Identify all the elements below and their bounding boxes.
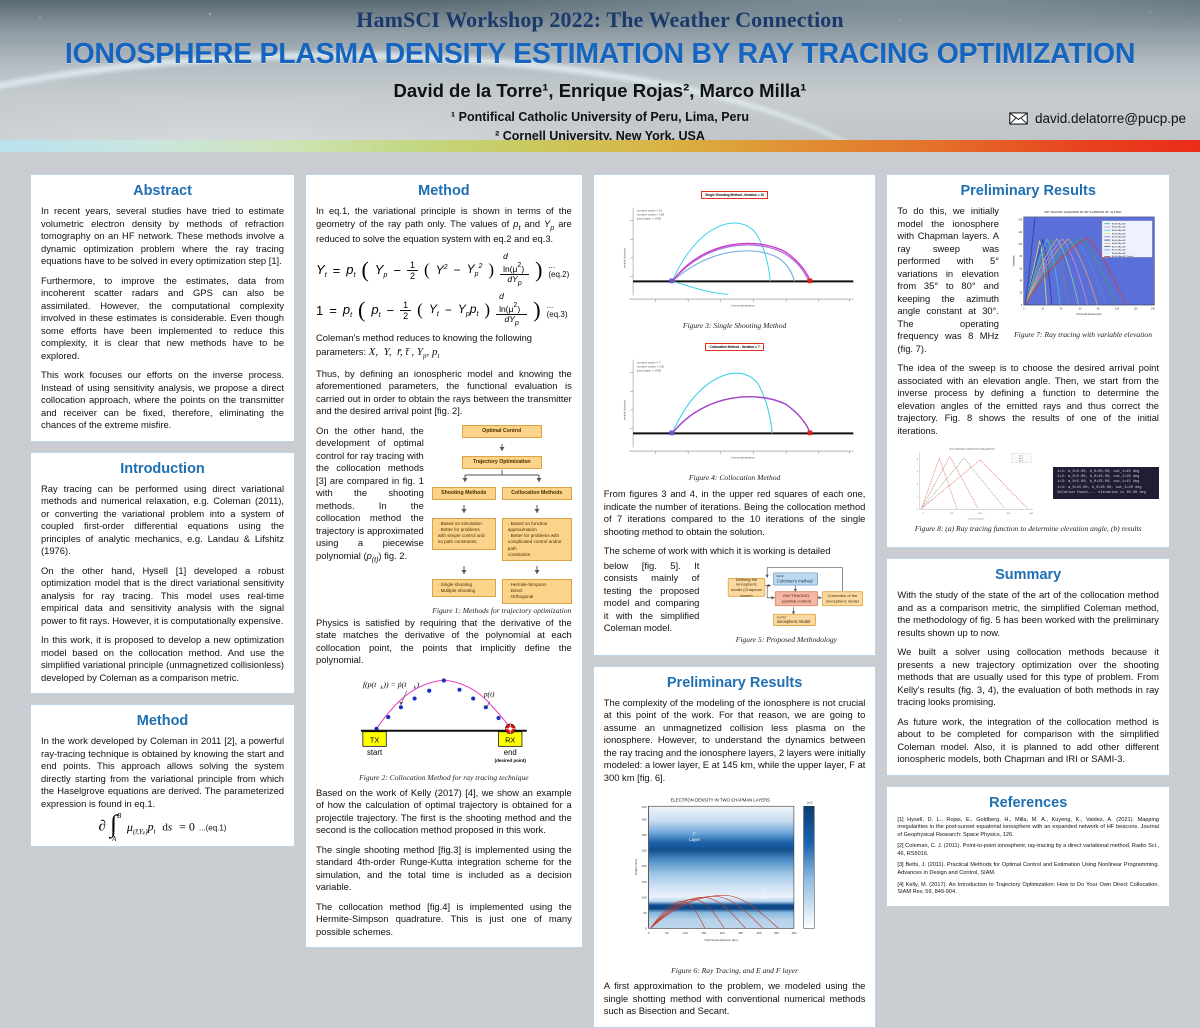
svg-text:60: 60	[1079, 309, 1082, 311]
svg-text:80: 80	[1097, 309, 1100, 311]
equation-3: 1 = pt ( pt − 12 (Yt−Yppt) d ln(μ2)dYp )…	[316, 292, 572, 328]
poster-body: Abstract In recent years, several studie…	[0, 152, 1200, 901]
results-col4-paragraph-2: The idea of the sweep is to choose the d…	[897, 362, 1159, 437]
method-col2-paragraph-7: The single shooting method [fig.3] is im…	[316, 844, 572, 894]
svg-text:El=50°/Az=30°: El=50°/Az=30°	[1112, 232, 1126, 235]
figure-7-caption: Figure 7: Ray tracing with variable elev…	[1007, 330, 1159, 339]
envelope-icon	[1009, 112, 1028, 125]
fig1-connector-2	[432, 505, 572, 513]
figure-7-plot: RAY TRACING: ELEVATION 35°-80° & AZIMUTH…	[1007, 205, 1159, 323]
figure-6-caption: Figure 6: Ray Tracing, and E and F layer	[604, 966, 866, 975]
method-card-col1: Method In the work developed by Coleman …	[30, 704, 295, 847]
summary-heading: Summary	[897, 567, 1159, 583]
svg-text:400: 400	[642, 805, 647, 809]
fig3-target-marker	[807, 279, 812, 284]
results-col3-paragraph-1: The complexity of the modeling of the io…	[604, 697, 866, 785]
figure-3: Single Shooting Method - iteration = 10 …	[604, 183, 866, 330]
fig3-launch-marker	[669, 279, 674, 284]
fig2-end-note: (desired point)	[495, 758, 527, 763]
figure-8-caption: Figure 8: (a) Ray tracing function to de…	[897, 524, 1159, 533]
fig1-node-root: Optimal Control	[462, 425, 542, 438]
method-col2-paragraph-3: Thus, by defining an ionospheric model a…	[316, 368, 572, 418]
svg-text:40: 40	[1020, 280, 1023, 282]
svg-text:250: 250	[738, 931, 743, 935]
svg-text:200: 200	[720, 931, 725, 935]
figure-3-title-tag: Single Shooting Method - iteration = 10	[701, 191, 768, 199]
fig6-ylabel: Height (km)	[634, 859, 638, 875]
introduction-heading: Introduction	[41, 461, 284, 477]
column-2: Method In eq.1, the variational principl…	[305, 174, 583, 1028]
svg-text:0: 0	[1023, 309, 1025, 311]
method-heading-col1: Method	[41, 713, 284, 729]
reference-3: [3] Betts, J. (2011). Practical Methods …	[897, 862, 1159, 877]
method-col2-paragraph-1: In eq.1, the variational principle is sh…	[316, 205, 572, 245]
spectrum-divider-bar	[0, 140, 1200, 152]
svg-text:400: 400	[791, 931, 796, 935]
svg-text:150: 150	[701, 931, 706, 935]
svg-text:100: 100	[950, 513, 953, 515]
fig7-ylabel: Height(km)	[1013, 255, 1016, 267]
fig1-connector-1	[432, 444, 572, 451]
figure-7: RAY TRACING: ELEVATION 35°-80° & AZIMUTH…	[1007, 205, 1159, 339]
figure-3-caption: Figure 3: Single Shooting Method	[604, 321, 866, 330]
svg-text:100: 100	[642, 895, 647, 899]
svg-text:350: 350	[774, 931, 779, 935]
svg-text:RAY TRACING FUNCTION TO ELEVAT: RAY TRACING FUNCTION TO ELEVATION	[950, 448, 995, 451]
fig2-label-pt: p(t)	[483, 689, 495, 698]
introduction-paragraph-1: Ray tracing can be performed using direc…	[41, 483, 284, 558]
svg-text:total space = 1000: total space = 1000	[637, 217, 662, 221]
preliminary-results-card-col4: Preliminary Results RAY TRACING: ELEVATI…	[886, 174, 1170, 548]
figure-4-plot: number points = 7 number nodes = 100 tot…	[604, 354, 866, 466]
svg-text:100: 100	[683, 931, 688, 935]
fig6-xlabel: Horizontal distance (km)	[704, 938, 737, 942]
figure-6-title: ELECTRON DENSITY IN TWO CHAPMAN LAYERS	[670, 797, 769, 802]
equation-2: Yt = pt ( Yp − 12 (Y2−Yp2) d ln(μ2)dYp )…	[316, 252, 572, 288]
fig2-target-marker	[505, 723, 515, 733]
svg-text:50: 50	[643, 911, 647, 915]
method-col2-paragraph-6: Based on the work of Kelly (2017) [4], w…	[316, 787, 572, 837]
fig1-bullets-collocation: · Based on function approximation · Bett…	[502, 518, 572, 561]
svg-text:0: 0	[645, 926, 647, 930]
svg-text:total space = 1000: total space = 1000	[637, 369, 662, 373]
svg-text:300: 300	[756, 931, 761, 935]
svg-text:40: 40	[1060, 309, 1063, 311]
figure-1: Optimal Control Trajectory Optimization …	[432, 425, 572, 615]
svg-text:El=65°/Az=30°: El=65°/Az=30°	[1112, 242, 1126, 245]
method-col1-paragraph-1: In the work developed by Coleman in 2011…	[41, 735, 284, 810]
svg-text:120: 120	[1134, 309, 1139, 311]
figure-7-legend: El=35°/Az=30° El=40°/Az=30° El=45°/Az=30…	[1102, 221, 1152, 258]
contact-email[interactable]: david.delatorre@pucp.pe	[1009, 111, 1186, 126]
fig4-launch-marker	[669, 431, 674, 436]
svg-text:300: 300	[642, 833, 647, 837]
method-heading-col2: Method	[316, 183, 572, 199]
svg-text:2: 2	[917, 496, 918, 498]
reference-4: [4] Kelly, M. (2017). An Introduction to…	[897, 882, 1159, 897]
fig6-cbar-label: 1e12	[806, 800, 813, 804]
svg-text:150: 150	[642, 880, 647, 884]
abstract-card: Abstract In recent years, several studie…	[30, 174, 295, 442]
svg-text:El=45°/Az=30°: El=45°/Az=30°	[1112, 229, 1126, 232]
svg-text:El=80°/Az=30° Partial: El=80°/Az=30° Partial	[1112, 255, 1134, 258]
svg-text:El=75°/Az=30°: El=75°/Az=30°	[1112, 249, 1126, 252]
figure-8a-plot: RAY TRACING FUNCTION TO ELEVATION	[897, 444, 1047, 522]
svg-text:60: 60	[1020, 268, 1023, 270]
fig5-node-coleman: MetricColeman's method	[773, 572, 818, 585]
reference-2: [2] Coleman, C. J. (2011). Point-to-poin…	[897, 843, 1159, 858]
svg-text:horizontal distance: horizontal distance	[731, 304, 755, 308]
reference-1: [1] Hysell, D. L., Rojas, E., Goldberg, …	[897, 817, 1159, 840]
svg-text:iter 3: iter 3	[1019, 460, 1023, 463]
svg-text:140: 140	[1151, 309, 1156, 311]
figure-1-caption: Figure 1: Methods for trajectory optimiz…	[432, 606, 572, 615]
svg-text:El=55°/Az=30°: El=55°/Az=30°	[1112, 236, 1126, 239]
introduction-paragraph-3: In this work, it is proposed to develop …	[41, 634, 284, 684]
fig5-node-correction: Correction of the ionospheric model	[822, 591, 863, 606]
summary-paragraph-2: We built a solver using collocation meth…	[897, 646, 1159, 709]
fig1-node-trajopt: Trajectory Optimization	[462, 456, 542, 469]
fig1-connector-3	[432, 566, 572, 574]
method-card-col2: Method In eq.1, the variational principl…	[305, 174, 583, 948]
svg-text:0: 0	[648, 931, 650, 935]
email-text: david.delatorre@pucp.pe	[1035, 111, 1186, 126]
references-card: References [1] Hysell, D. L., Rojas, E.,…	[886, 786, 1170, 907]
fig2-rx-label: RX	[505, 735, 515, 744]
figure-6-plot: ELECTRON DENSITY IN TWO CHAPMAN LAYERS F…	[604, 791, 866, 959]
svg-text:6: 6	[917, 471, 918, 473]
svg-text:horizontal distance: horizontal distance	[969, 517, 985, 520]
svg-text:El=60°/Az=30°: El=60°/Az=30°	[1112, 239, 1126, 242]
abstract-paragraph-3: This work focuses our efforts on the inv…	[41, 369, 284, 432]
fig2-tx-label: TX	[370, 735, 379, 744]
equation-1: ∂ ∫ B A μ(r̄,Yp)pt ds = 0 ...(eq.1)	[41, 817, 284, 837]
introduction-card: Introduction Ray tracing can be performe…	[30, 452, 295, 695]
figure-4: Collocation Method - iteration = 7 numbe…	[604, 335, 866, 482]
svg-text:El=35°/Az=30°: El=35°/Az=30°	[1112, 222, 1126, 225]
figure-6: ELECTRON DENSITY IN TWO CHAPMAN LAYERS F…	[604, 791, 866, 975]
fig1-node-shooting: Shooting Methods	[432, 487, 496, 500]
figures-3-4-card: Single Shooting Method - iteration = 10 …	[593, 174, 877, 656]
summary-card: Summary With the study of the state of t…	[886, 558, 1170, 776]
svg-text:200: 200	[979, 513, 982, 515]
svg-text:El=40°/Az=30°: El=40°/Az=30°	[1112, 226, 1126, 229]
fig1-connector-split	[432, 470, 572, 482]
equation-2-tag: ...(eq.2)	[548, 261, 571, 279]
preliminary-results-card-col3: Preliminary Results The complexity of th…	[593, 666, 877, 1028]
fig1-leaf-collocation: · Hermite-Simpson · Direct · Orthogonal	[502, 579, 572, 604]
results-col3-paragraph-2: A first approximation to the problem, we…	[604, 980, 866, 1018]
svg-text:El=70°/Az=30°: El=70°/Az=30°	[1112, 245, 1126, 248]
svg-text:iter 1: iter 1	[1019, 454, 1023, 457]
introduction-paragraph-2: On the other hand, Hysell [1] developed …	[41, 565, 284, 628]
svg-text:El=80°/Az=30°: El=80°/Az=30°	[1112, 252, 1126, 255]
references-heading: References	[897, 795, 1159, 811]
fig1-node-collocation: Collocation Methods	[502, 487, 572, 500]
abstract-paragraph-2: Furthermore, to improve the estimates, d…	[41, 275, 284, 363]
column-1: Abstract In recent years, several studie…	[30, 174, 295, 1028]
method-col2-paragraph-5: Physics is satisfied by requiring that t…	[316, 617, 572, 667]
affiliation-2: ² Cornell University, New York, USA	[0, 127, 1200, 140]
preliminary-results-heading-col3: Preliminary Results	[604, 675, 866, 691]
svg-text:Layer: Layer	[758, 894, 768, 899]
abstract-paragraph-1: In recent years, several studies have tr…	[41, 205, 284, 268]
svg-text:iter 2: iter 2	[1019, 457, 1023, 460]
poster-header: HamSCI Workshop 2022: The Weather Connec…	[0, 0, 1200, 140]
svg-text:120: 120	[1018, 232, 1023, 234]
column-3: Single Shooting Method - iteration = 10 …	[593, 174, 877, 1028]
fig6-e-layer-label: E	[762, 888, 765, 893]
method-col2-paragraph-8: The collocation method [fig.4] is implem…	[316, 901, 572, 939]
svg-text:200: 200	[642, 864, 647, 868]
figure-2-caption: Figure 2: Collocation Method for ray tra…	[316, 773, 572, 782]
svg-text:100: 100	[1018, 244, 1023, 246]
svg-text:350: 350	[642, 818, 647, 822]
preliminary-results-heading-col4: Preliminary Results	[897, 183, 1159, 199]
fig2-start-label: start	[367, 748, 383, 757]
method-col2-paragraph-2: Coleman's method reduces to knowing the …	[316, 332, 572, 361]
svg-text:0: 0	[1021, 305, 1023, 307]
summary-paragraph-1: With the study of the state of the art o…	[897, 589, 1159, 639]
fig7-xlabel: Horizontal distance(km)	[1076, 313, 1102, 316]
svg-text:horizontal distance: horizontal distance	[731, 456, 755, 460]
figure-5-diagram: Defining the ionospheric model (Chapman …	[707, 560, 865, 628]
fig5-node-raytracing: RAYTRACING (optimal control)	[775, 591, 818, 606]
figure-2: f(p(t k )) = ṗ(t k ) p(t)	[316, 674, 572, 782]
fig4-target-marker	[807, 431, 812, 436]
svg-text:140: 140	[1018, 220, 1023, 222]
fig5-node-output: OUTPUTIonospheric Model	[773, 613, 816, 625]
figure-2-plot: f(p(t k )) = ṗ(t k ) p(t)	[316, 674, 572, 766]
author-list: David de la Torre¹, Enrique Rojas², Marc…	[0, 80, 1200, 102]
fig6-f-layer-label: F	[693, 831, 696, 836]
figure-7-title: RAY TRACING: ELEVATION 35°-80° & AZIMUTH…	[1044, 210, 1122, 214]
svg-text:50: 50	[665, 931, 669, 935]
svg-text:Layer: Layer	[689, 837, 700, 842]
svg-text:8: 8	[917, 459, 918, 461]
svg-text:)) = ṗ(t: )) = ṗ(t	[382, 679, 407, 688]
figure-5: Defining the ionospheric model (Chapman …	[707, 560, 865, 644]
column-4: Preliminary Results RAY TRACING: ELEVATI…	[886, 174, 1170, 1028]
equation-1-tag: ...(eq.1)	[199, 824, 227, 833]
fig2-end-label: end	[504, 748, 517, 757]
svg-text:300: 300	[1007, 513, 1010, 515]
figure-4-title-tag: Collocation Method - iteration = 7	[705, 343, 763, 351]
svg-text:250: 250	[642, 849, 647, 853]
summary-paragraph-3: As future work, the integration of the c…	[897, 716, 1159, 766]
poster-title: IONOSPHERE PLASMA DENSITY ESTIMATION BY …	[0, 38, 1200, 71]
abstract-heading: Abstract	[41, 183, 284, 199]
svg-text:400: 400	[1030, 513, 1033, 515]
col3-paragraph-2-intro: The scheme of work with which it is work…	[604, 545, 866, 558]
fig1-leaf-shooting: · Single shooting · Multiple shooting	[432, 579, 496, 597]
svg-text:20: 20	[1020, 293, 1023, 295]
svg-text:vertical distance: vertical distance	[622, 248, 626, 268]
figure-8b-terminal: i=1: a_0=5.00, b_0=85.00, out_1=45 deg i…	[1053, 467, 1159, 500]
fig1-bullets-shooting: · Based on simulation · Better for probl…	[432, 518, 496, 550]
figure-5-caption: Figure 5: Proposed Methodology	[707, 635, 865, 644]
svg-text:100: 100	[1115, 309, 1120, 311]
workshop-title: HamSCI Workshop 2022: The Weather Connec…	[0, 7, 1200, 33]
svg-text:0: 0	[917, 509, 918, 511]
svg-text:0: 0	[923, 513, 924, 515]
equation-3-tag: ...(eq.3)	[547, 301, 572, 319]
figure-3-plot: number points = 10 number nodes = 100 to…	[604, 202, 866, 314]
figure-4-caption: Figure 4: Collocation Method	[604, 473, 866, 482]
fig2-label-fn: f(p(t	[363, 679, 377, 688]
fig5-node-ionospheric-model: Defining the ionospheric model (Chapman …	[728, 578, 766, 597]
col3-paragraph-1: From figures 3 and 4, in the upper red s…	[604, 488, 866, 538]
svg-text:80: 80	[1020, 256, 1023, 258]
svg-text:vertical distance: vertical distance	[622, 400, 626, 420]
svg-text:20: 20	[1041, 309, 1044, 311]
figure-8: RAY TRACING FUNCTION TO ELEVATION	[897, 444, 1159, 533]
